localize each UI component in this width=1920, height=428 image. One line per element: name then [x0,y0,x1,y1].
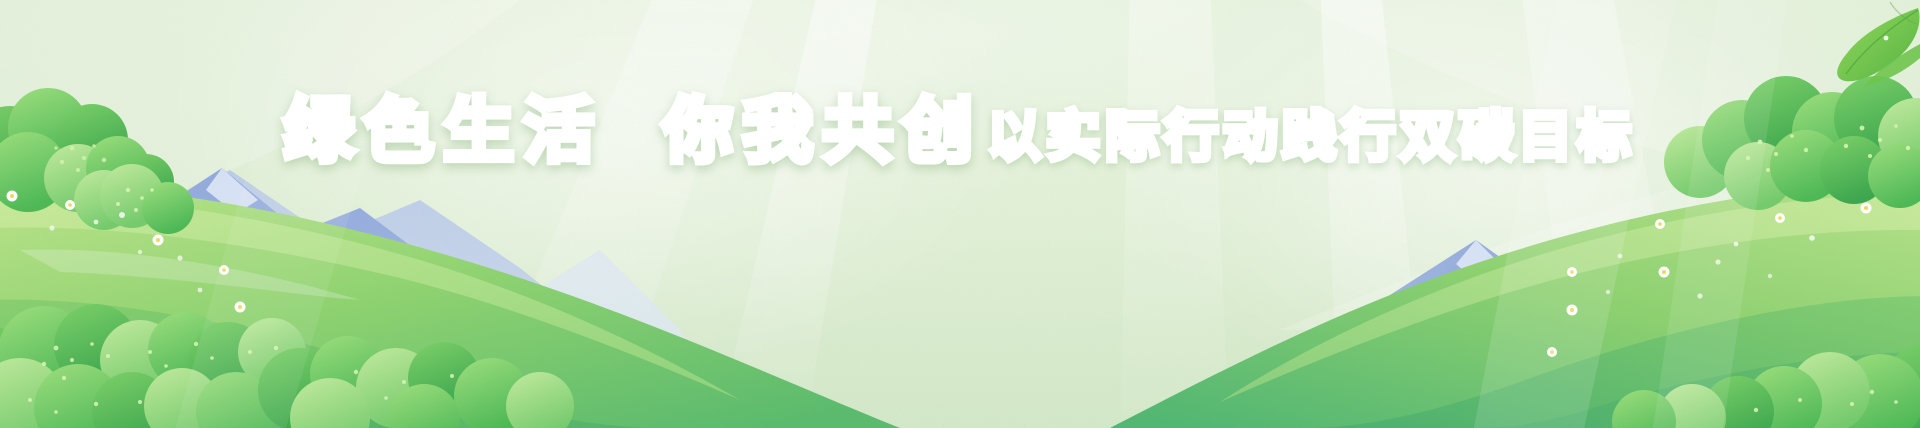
eco-campaign-banner: 绿色生活 你我共创 以实际行动践行双碳目标 [0,0,1920,428]
banner-subline: 以实际行动践行双碳目标 [987,110,1636,164]
banner-headline: 绿色生活 你我共创 [284,96,983,167]
corner-leaf-sprig [0,0,1920,428]
banner-text-block: 绿色生活 你我共创 以实际行动践行双碳目标 [0,96,1920,167]
leaf-top-right [1837,2,1920,86]
